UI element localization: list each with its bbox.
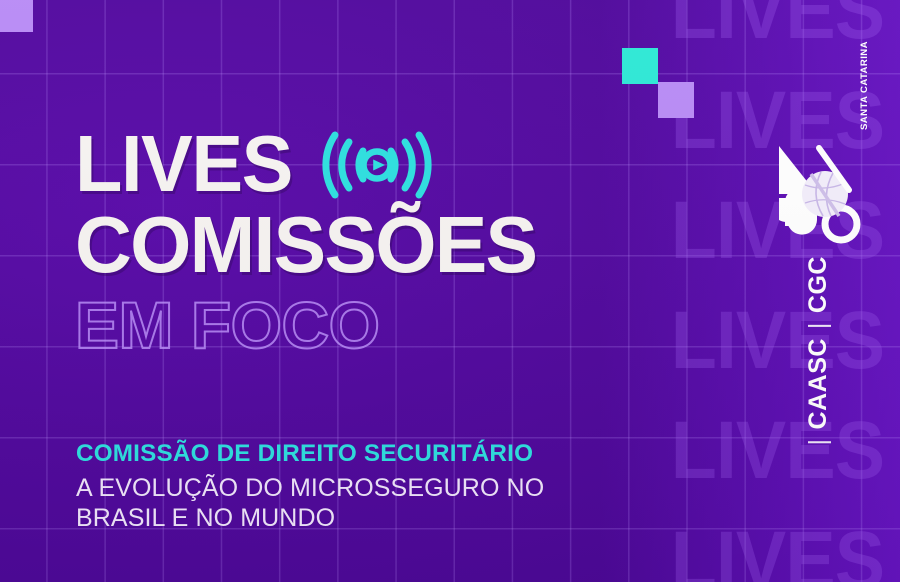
oab-section-label: SANTA CATARINA [859, 41, 870, 130]
entity-caasc: CAASC [805, 338, 834, 429]
copy-block: COMISSÃO DE DIREITO SECURITÁRIO A EVOLUÇ… [76, 441, 676, 534]
headline-row-lives: LIVES [75, 128, 543, 200]
watermark-lives: LIVES [656, 520, 886, 582]
oab-globe-logo: SANTA CATARINA [775, 128, 863, 250]
oab-entity-text: | CAASC | CGC [805, 256, 834, 454]
event-subtitle-line2: BRASIL E NO MUNDO [76, 503, 676, 534]
headline-comissoes: COMISSÕES [75, 208, 536, 282]
headline-lives: LIVES [75, 133, 292, 195]
event-subtitle-line1: A EVOLUÇÃO DO MICROSSEGURO NO [76, 473, 676, 504]
headline-em-foco: EM FOCO [75, 292, 543, 358]
oab-logo-lockup: SANTA CATARINA | CAASC | CGC [773, 128, 865, 468]
lilac-square [658, 82, 694, 118]
event-subtitle: A EVOLUÇÃO DO MICROSSEGURO NO BRASIL E N… [76, 473, 676, 534]
entity-cgc: CGC [805, 256, 834, 313]
cyan-square [622, 48, 658, 84]
oab-logo-rotated: SANTA CATARINA | CAASC | CGC [773, 128, 865, 468]
broadcast-play-icon [319, 129, 435, 201]
lilac-square-top-left [0, 0, 33, 32]
headline-block: LIVES COMISSÕES EM FOCO [75, 128, 543, 358]
lockup-separator-1: | [805, 438, 834, 445]
commission-title: COMISSÃO DE DIREITO SECURITÁRIO [76, 441, 670, 468]
oab-mark-svg [775, 128, 863, 250]
banner-canvas: LIVES LIVES LIVES LIVES LIVES LIVES LIVE… [0, 0, 900, 582]
lockup-separator-2: | [805, 322, 834, 329]
watermark-lives: LIVES [656, 0, 886, 52]
